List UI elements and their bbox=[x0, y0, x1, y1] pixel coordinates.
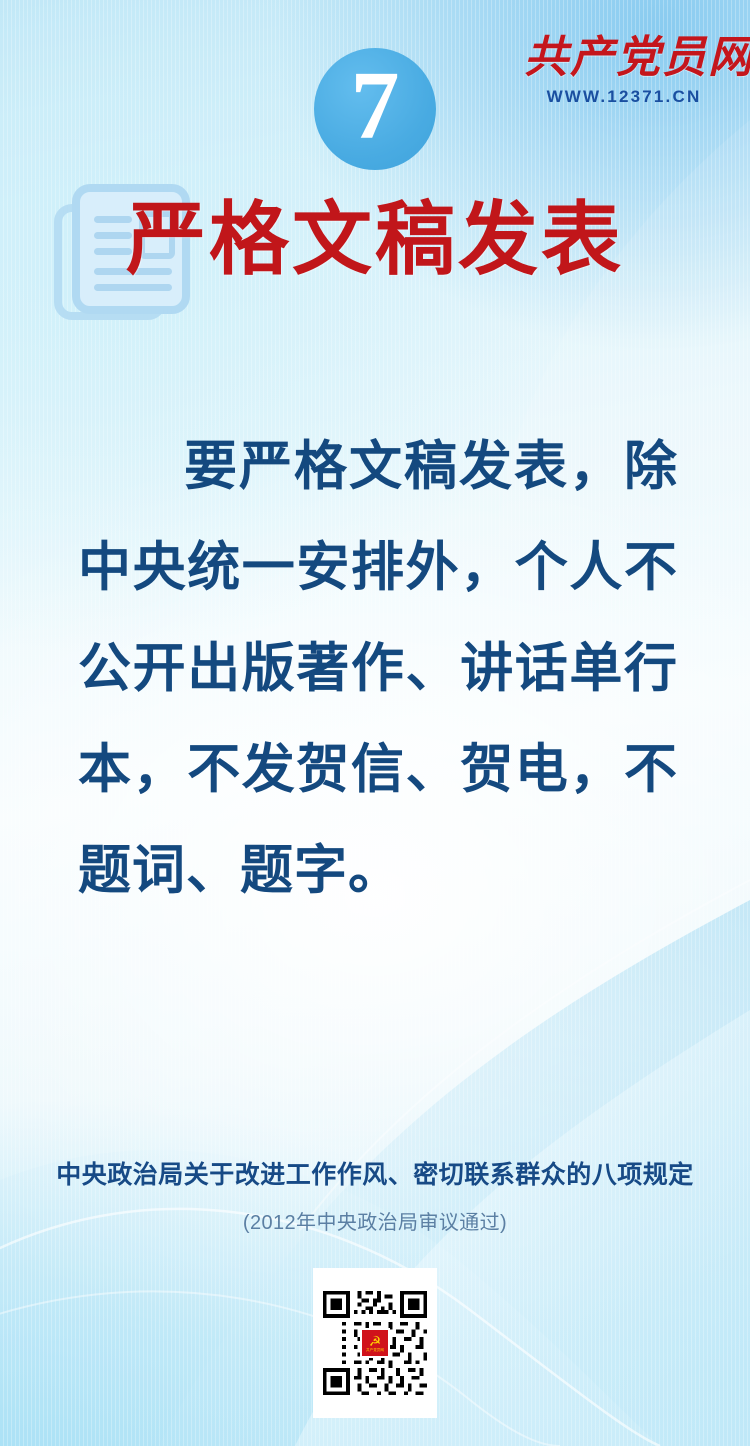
footer-regulation-subtitle: (2012年中央政治局审议通过) bbox=[0, 1206, 750, 1235]
site-logo[interactable]: 共产党员网 WWW.12371.CN bbox=[524, 36, 724, 105]
body-text: 要严格文稿发表，除中央统一安排外，个人不公开出版著作、讲话单行本，不发贺信、贺电… bbox=[78, 416, 678, 921]
page-title: 严格文稿发表 bbox=[0, 196, 750, 284]
number-badge-circle: 7 bbox=[314, 48, 436, 170]
party-emblem-label: 共产党员网 bbox=[366, 1348, 384, 1352]
site-logo-name: 共产党员网 bbox=[524, 36, 724, 80]
site-logo-url: WWW.12371.CN bbox=[524, 88, 724, 105]
footer-regulation-title: 中央政治局关于改进工作作风、密切联系群众的八项规定 bbox=[0, 1155, 750, 1191]
hammer-sickle-glyph: ☭ bbox=[369, 1334, 382, 1348]
qr-code[interactable]: ☭ 共产党员网 bbox=[313, 1268, 437, 1418]
poster-root: 共产党员网 WWW.12371.CN 7 严格文稿发表 要严格文稿发表，除中央统… bbox=[0, 0, 750, 1446]
number-badge-value: 7 bbox=[351, 57, 400, 155]
party-emblem-icon: ☭ 共产党员网 bbox=[362, 1330, 388, 1356]
